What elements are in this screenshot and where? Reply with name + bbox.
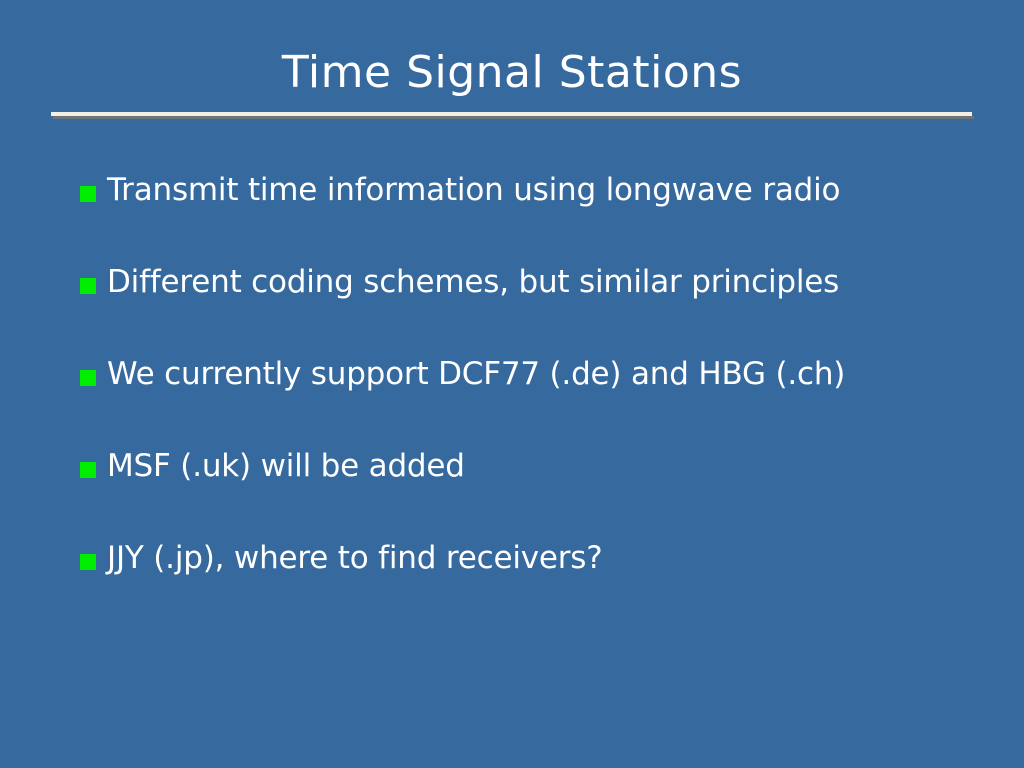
list-item: JJY (.jp), where to find receivers?: [80, 536, 980, 628]
green-square-bullet-icon: [80, 462, 96, 478]
list-item: Different coding schemes, but similar pr…: [80, 260, 980, 352]
green-square-bullet-icon: [80, 554, 96, 570]
divider-shadow-line: [53, 116, 974, 119]
presentation-slide: Time Signal Stations Transmit time infor…: [0, 0, 1024, 768]
list-item: We currently support DCF77 (.de) and HBG…: [80, 352, 980, 444]
list-item-label: Transmit time information using longwave…: [107, 168, 980, 212]
list-item-label: Different coding schemes, but similar pr…: [107, 260, 980, 304]
green-square-bullet-icon: [80, 370, 96, 386]
slide-title-block: Time Signal Stations: [0, 46, 1024, 100]
page-title: Time Signal Stations: [0, 46, 1024, 100]
title-divider: [51, 112, 972, 119]
list-item: MSF (.uk) will be added: [80, 444, 980, 536]
list-item-label: JJY (.jp), where to find receivers?: [107, 536, 980, 580]
bullet-list: Transmit time information using longwave…: [80, 168, 980, 628]
list-item: Transmit time information using longwave…: [80, 168, 980, 260]
list-item-label: We currently support DCF77 (.de) and HBG…: [107, 352, 980, 396]
list-item-label: MSF (.uk) will be added: [107, 444, 980, 488]
green-square-bullet-icon: [80, 278, 96, 294]
green-square-bullet-icon: [80, 186, 96, 202]
